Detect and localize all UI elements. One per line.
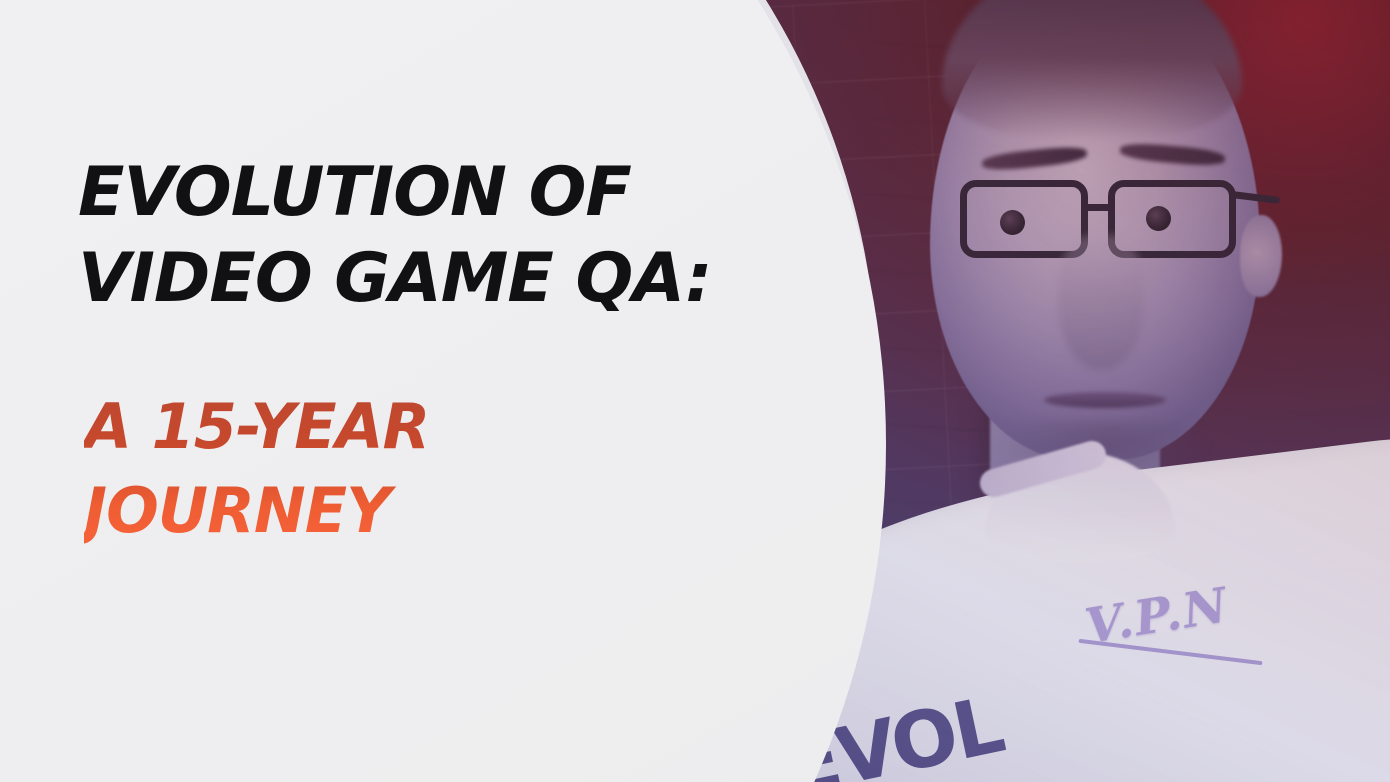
page-subtitle: A 15-YEAR JOURNEY xyxy=(84,385,429,553)
banner: EVOL V.P.N EVOLUTION OF VIDEO GAME QA: A… xyxy=(0,0,1390,782)
nose xyxy=(1058,235,1144,370)
page-title: EVOLUTION OF VIDEO GAME QA: xyxy=(78,150,711,322)
eye-left xyxy=(1000,210,1025,235)
eye-right xyxy=(1146,206,1171,231)
mouth xyxy=(1044,392,1166,408)
hairline xyxy=(942,0,1242,140)
glasses-bridge xyxy=(1082,204,1114,211)
glasses-temple xyxy=(1232,191,1280,204)
